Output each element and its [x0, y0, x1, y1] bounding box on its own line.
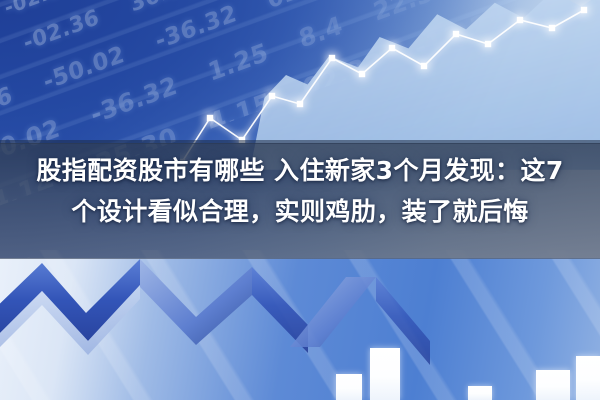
ticker-value: -02.36	[21, 5, 102, 57]
zigzag-arrow-ribbons	[0, 255, 460, 400]
chart-node	[517, 17, 523, 23]
chart-node	[329, 55, 335, 61]
headline-line-1: 股指配资股市有哪些 入住新家3个月发现：这7	[0, 150, 600, 191]
chart-node	[269, 93, 275, 99]
ticker-value: -50.02	[41, 41, 127, 96]
page-title: 股指配资股市有哪些 入住新家3个月发现：这7 个设计看似合理，实则鸡肋，装了就后…	[0, 150, 600, 232]
chart-node	[421, 63, 427, 69]
thumbnail-image: -02.36-11.2545.0221.05-36.32-03.35-11.25…	[0, 0, 600, 400]
chart-node	[207, 115, 213, 121]
bar-column	[576, 356, 600, 400]
chart-node	[453, 31, 459, 37]
chart-node	[485, 41, 491, 47]
chart-node	[581, 7, 587, 13]
ticker-value: -36.32	[88, 70, 181, 129]
chart-node	[359, 71, 365, 77]
chart-node	[297, 101, 303, 107]
bar-column	[536, 370, 570, 400]
chart-node	[549, 25, 555, 31]
ticker-value: 1.16	[0, 82, 15, 127]
chart-node	[389, 45, 395, 51]
bar-column	[468, 386, 492, 400]
headline-line-2: 个设计看似合理，实则鸡肋，装了就后悔	[0, 191, 600, 232]
